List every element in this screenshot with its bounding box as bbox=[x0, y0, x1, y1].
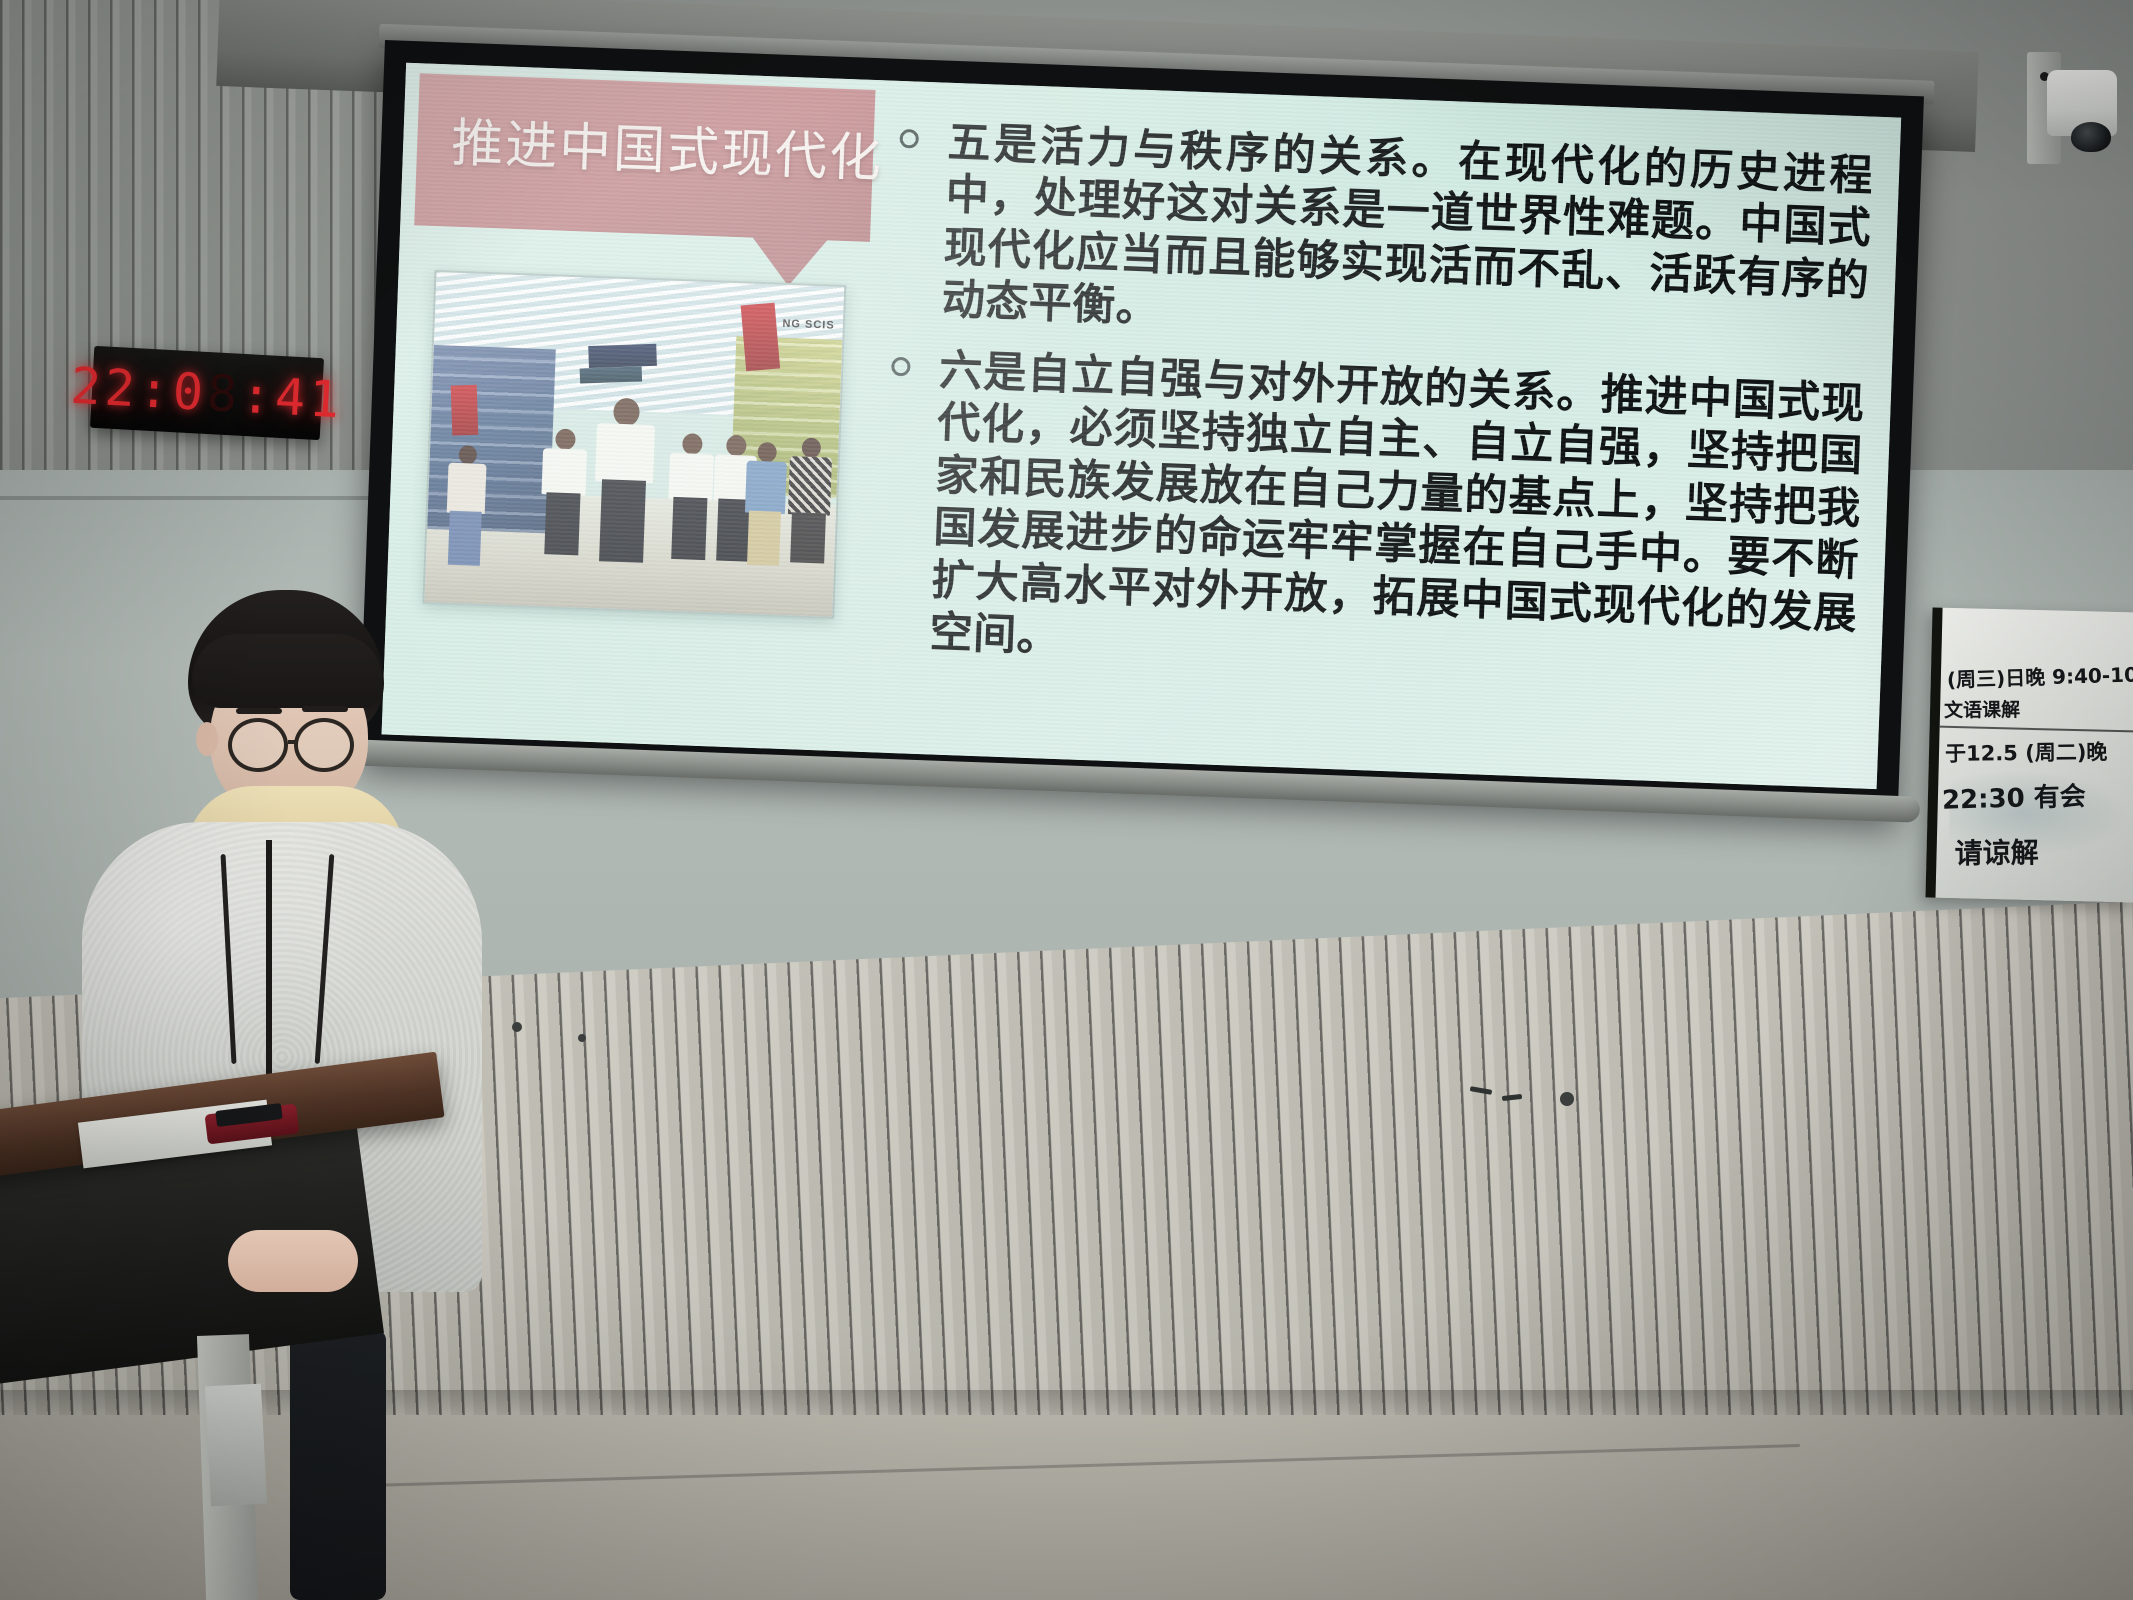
presenter-glasses-left-lens bbox=[228, 718, 288, 772]
presenter-hands bbox=[228, 1230, 358, 1292]
clock-dim-digit: 8 bbox=[205, 364, 242, 424]
whiteboard-line-1: (周三)日晚 9:40-10 bbox=[1946, 659, 2133, 693]
photo-figure-head bbox=[459, 445, 478, 465]
photo-figure-pants bbox=[544, 492, 580, 555]
camera-lens-icon bbox=[2071, 122, 2111, 152]
whiteboard-line-3: 于12.5 (周二)晚 bbox=[1945, 736, 2108, 768]
photo-figure-pants bbox=[599, 479, 646, 563]
photo-figure-shirt bbox=[668, 453, 714, 501]
wall-hole-3 bbox=[578, 1034, 586, 1042]
screen-surface: 推进中国式现代化 NG SCIS bbox=[382, 63, 1902, 789]
photo-bystander-a bbox=[740, 442, 790, 595]
photo-figure-main bbox=[588, 397, 659, 597]
photo-figure-head bbox=[801, 437, 821, 458]
presenter-ear bbox=[196, 722, 218, 756]
slide-bullet-item: 五是活力与秩序的关系。在现代化的历史进程中，处理好这对关系是一道世界性难题。中国… bbox=[887, 115, 1874, 361]
lectern-shelf bbox=[205, 1384, 267, 1507]
photo-banner-text: NG SCIS bbox=[782, 318, 835, 332]
photo-hanging-sign bbox=[588, 344, 657, 368]
presenter-brow-left bbox=[236, 708, 282, 714]
photo-figure-left bbox=[535, 428, 591, 595]
photo-figure-shirt bbox=[745, 461, 787, 514]
whiteboard-divider bbox=[1940, 726, 2133, 733]
slide-bullet-item: 六是自立自强与对外开放的关系。推进中国式现代化，必须坚持独立自主、自立自强，坚持… bbox=[875, 342, 1866, 692]
whiteboard-line-4: 22:30 有会 bbox=[1941, 776, 2086, 817]
clock-seconds: :41 bbox=[239, 366, 344, 429]
wall-notice-board: (周三)日晚 9:40-10 文语课解 于12.5 (周二)晚 22:30 有会… bbox=[1925, 607, 2133, 902]
photo-figure-pants bbox=[671, 497, 707, 560]
presenter-brow-right bbox=[302, 706, 348, 712]
hollow-circle-bullet-icon bbox=[891, 357, 911, 377]
slide-bullet-list: 五是活力与秩序的关系。在现代化的历史进程中，处理好这对关系是一道世界性难题。中国… bbox=[872, 115, 1874, 770]
photo-figure-shirt bbox=[447, 462, 487, 513]
presenter-glasses-bridge bbox=[288, 740, 298, 744]
wall-hole bbox=[1560, 1092, 1574, 1106]
whiteboard-line-5: 请谅解 bbox=[1954, 831, 2038, 872]
photo-red-banner-2 bbox=[451, 385, 479, 436]
projection-screen: 推进中国式现代化 NG SCIS bbox=[359, 40, 1924, 816]
classroom-scene: 22:08:41 推进中国式现代化 bbox=[0, 0, 2133, 1600]
slide-photo: NG SCIS bbox=[422, 270, 846, 619]
photo-figure-pants bbox=[790, 512, 826, 563]
photo-red-banner bbox=[740, 302, 780, 371]
led-wall-clock: 22:08:41 bbox=[90, 346, 324, 440]
photo-figure-shirt bbox=[542, 448, 588, 496]
photo-figure-head bbox=[613, 397, 640, 426]
photo-bystander-c bbox=[441, 444, 490, 584]
clock-hours-minutes: 22:0 bbox=[69, 357, 208, 422]
slide-bullet-text: 六是自立自强与对外开放的关系。推进中国式现代化，必须坚持独立自主、自立自强，坚持… bbox=[929, 344, 1866, 692]
lectern bbox=[0, 1085, 440, 1505]
photo-hanging-sign-2 bbox=[580, 367, 642, 384]
presentation-slide: 推进中国式现代化 NG SCIS bbox=[382, 63, 1902, 789]
photo-figure-pants bbox=[747, 511, 781, 566]
photo-figure-head bbox=[682, 433, 703, 455]
photo-figure-pants bbox=[448, 510, 482, 565]
photo-figure-head bbox=[757, 442, 777, 463]
wall-hole-2 bbox=[512, 1022, 522, 1032]
whiteboard-line-2: 文语课解 bbox=[1944, 695, 2020, 723]
wall-seam-left bbox=[0, 496, 400, 500]
slide-bullet-text: 五是活力与秩序的关系。在现代化的历史进程中，处理好这对关系是一道世界性难题。中国… bbox=[941, 117, 1874, 361]
security-camera bbox=[1987, 48, 2117, 178]
photo-figure-head bbox=[726, 435, 747, 457]
presenter-hair-fringe bbox=[192, 634, 382, 708]
photo-figure-shirt bbox=[595, 423, 655, 483]
photo-figure-head bbox=[555, 428, 576, 450]
presenter-glasses-right-lens bbox=[294, 718, 354, 772]
photo-bystander-b bbox=[783, 437, 835, 597]
photo-figure-shirt bbox=[788, 456, 832, 516]
hollow-circle-bullet-icon bbox=[899, 129, 919, 149]
slide-title-pointer bbox=[750, 237, 828, 288]
